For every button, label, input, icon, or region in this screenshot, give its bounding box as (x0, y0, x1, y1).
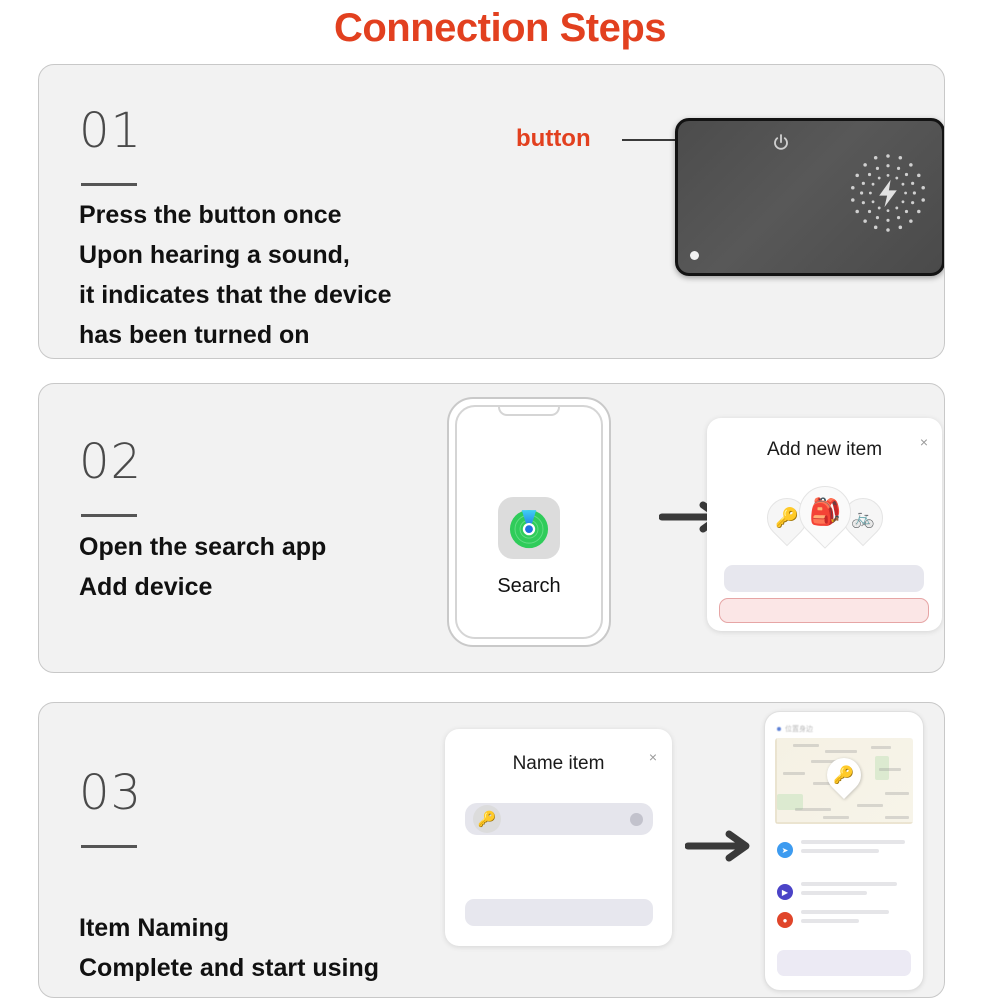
step-panel-03: 03 Item Naming Complete and start using … (38, 702, 945, 998)
connection-steps-page: Connection Steps 01 Press the button onc… (0, 0, 1000, 1000)
confirm-button[interactable] (465, 899, 653, 926)
name-item-dialog: Name item × 🔑 (445, 729, 672, 946)
map-image[interactable]: 🔑 (775, 738, 913, 824)
item-type-picker[interactable]: 🔑 🎒 🚲 (707, 486, 942, 538)
step-panel-01: 01 Press the button once Upon hearing a … (38, 64, 945, 359)
map-list-row-text (801, 849, 879, 853)
location-dot-icon (777, 727, 781, 731)
step-panel-02: 02 Open the search app Add device (38, 383, 945, 673)
clear-input-icon[interactable] (630, 813, 643, 826)
map-list-row-text (801, 840, 905, 844)
map-list-share-icon[interactable]: ➤ (777, 842, 793, 858)
map-list-row-text (801, 919, 859, 923)
phone-notch (498, 405, 560, 416)
arrow-right-icon (685, 829, 755, 868)
step-number-02: 02 (79, 434, 142, 490)
map-location-header: 位置身边 (777, 724, 813, 734)
power-icon (771, 133, 791, 153)
callout-label-button: button (516, 125, 591, 153)
device-card (675, 118, 945, 276)
step-number-01: 01 (79, 103, 142, 159)
search-app-label: Search (497, 575, 560, 598)
map-label (857, 804, 883, 807)
find-my-radar-icon (498, 497, 560, 559)
add-new-item-dialog: Add new item × 🔑 🎒 🚲 (707, 418, 942, 631)
map-list-row-text (801, 882, 897, 886)
map-list-play-icon[interactable]: ▶ (777, 884, 793, 900)
map-list-row-text (801, 891, 867, 895)
step-divider-02 (81, 514, 137, 517)
wireless-charging-icon (844, 149, 932, 237)
page-title: Connection Steps (0, 6, 1000, 51)
step-divider-01 (81, 183, 137, 186)
speaker-hole (690, 251, 699, 260)
key-item-map-pin[interactable]: 🔑 (820, 751, 868, 799)
map-label (783, 772, 805, 775)
dialog-title-add-new-item: Add new item (707, 439, 942, 461)
step-number-03: 03 (79, 765, 142, 821)
phone-screen: Search (455, 405, 603, 639)
step-description-01: Press the button once Upon hearing a sou… (79, 195, 392, 355)
close-icon[interactable]: × (649, 749, 657, 765)
dialog-title-name-item: Name item (445, 753, 672, 775)
close-icon[interactable]: × (920, 434, 928, 450)
map-label (823, 816, 849, 819)
map-label (825, 750, 857, 753)
key-icon: 🔑 (473, 805, 501, 833)
map-list-row-text (801, 910, 889, 914)
secondary-button[interactable] (724, 565, 924, 592)
phone-mockup: Search (447, 397, 611, 647)
item-option-backpack[interactable]: 🎒 (788, 475, 862, 549)
map-label (879, 768, 901, 771)
step-divider-03 (81, 845, 137, 848)
map-label (885, 792, 909, 795)
primary-button[interactable] (719, 598, 929, 623)
map-label (871, 746, 891, 749)
map-label (793, 744, 819, 747)
map-label (795, 808, 831, 811)
step-description-02: Open the search app Add device (79, 527, 326, 607)
item-name-input[interactable]: 🔑 (465, 803, 653, 835)
map-phone-screen: 位置身边 🔑 (764, 711, 924, 991)
search-app-shortcut[interactable]: Search (457, 497, 601, 598)
step-description-03: Item Naming Complete and start using (79, 908, 379, 988)
map-list-alert-icon[interactable]: ● (777, 912, 793, 928)
map-label (885, 816, 909, 819)
map-bottom-action-bar[interactable] (777, 950, 911, 976)
